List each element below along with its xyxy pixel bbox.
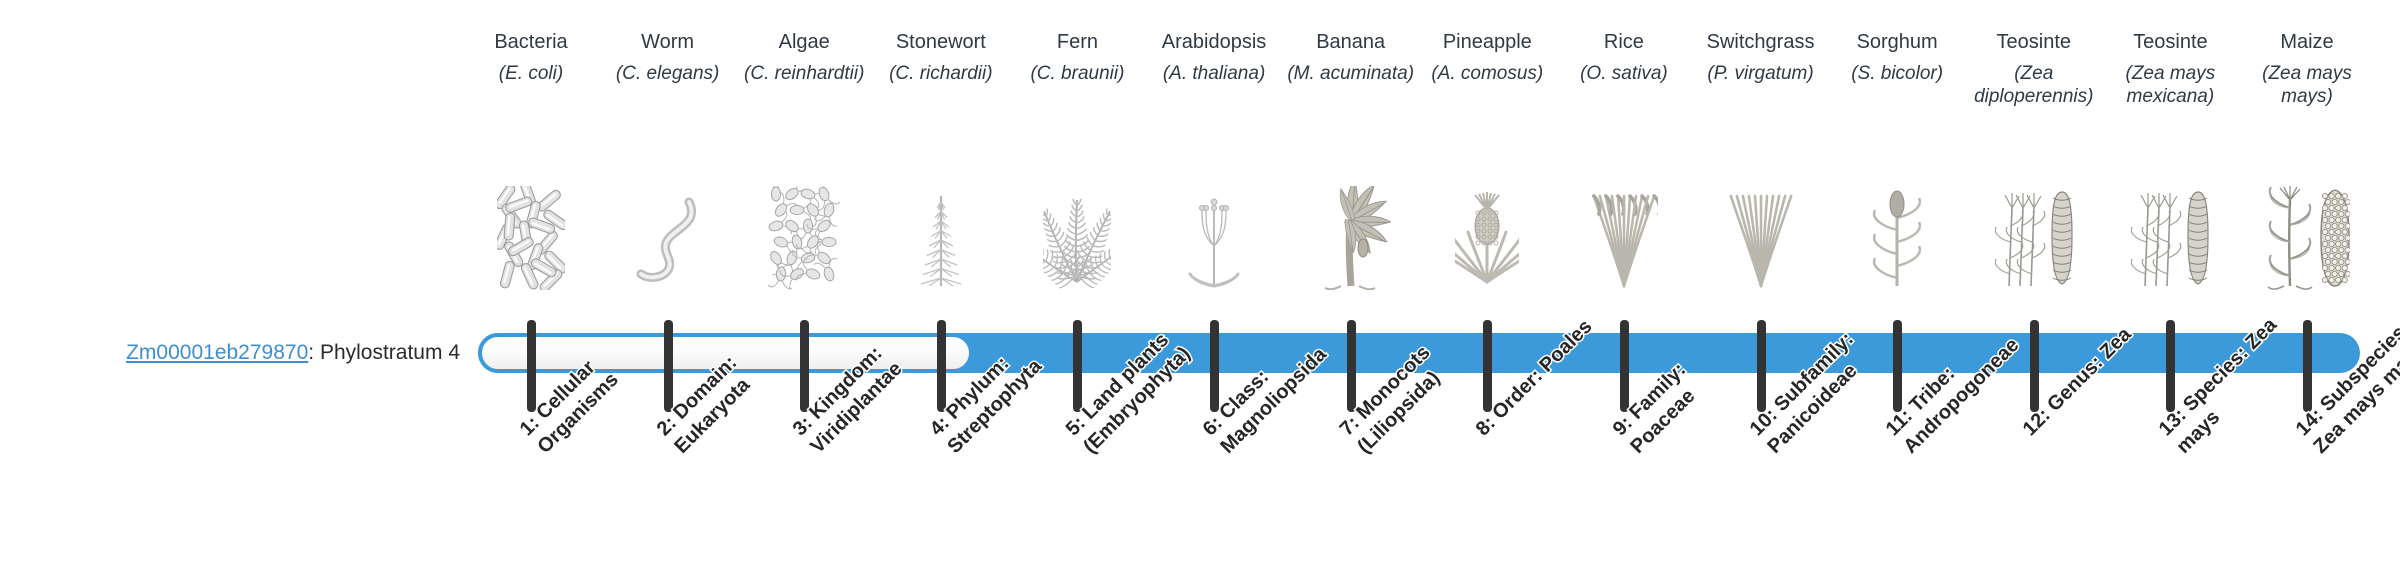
species-scientific-name: (P. virgatum) bbox=[1694, 62, 1828, 85]
teosinte-plant-and-ear-icon bbox=[2103, 195, 2237, 290]
phylostratum-tick bbox=[527, 320, 536, 412]
rank-label-text: 7: Monocots (Liliopsida) bbox=[1335, 304, 1491, 460]
species-column: Sorghum(S. bicolor) bbox=[1830, 30, 1964, 85]
sorghum-plant-icon bbox=[1830, 195, 1964, 290]
phylostratum-tick bbox=[1483, 320, 1492, 412]
rank-label-text: 1: Cellular Organisms bbox=[515, 304, 671, 460]
species-common-name: Teosinte bbox=[2103, 30, 2237, 54]
species-scientific-name: (E. coli) bbox=[464, 62, 598, 85]
species-common-name: Algae bbox=[737, 30, 871, 54]
species-scientific-name: (C. braunii) bbox=[1010, 62, 1144, 85]
stonewort-alga-icon bbox=[874, 195, 1008, 290]
phylostratum-tick bbox=[1620, 320, 1629, 412]
phylostratum-tick bbox=[1757, 320, 1766, 412]
phylostratum-value-text: Phylostratum 4 bbox=[320, 341, 460, 364]
phylostratum-tick bbox=[1893, 320, 1902, 412]
species-scientific-name: (A. thaliana) bbox=[1147, 62, 1281, 85]
rank-label-text: 3: Kingdom: Viridiplantae bbox=[788, 304, 944, 460]
switchgrass-plant-icon bbox=[1694, 195, 1828, 290]
species-common-name: Maize bbox=[2240, 30, 2374, 54]
species-common-name: Sorghum bbox=[1830, 30, 1964, 54]
rank-label-text: 5: Land plants (Embryophyta) bbox=[1061, 304, 1217, 460]
species-column: Pineapple(A. comosus) bbox=[1420, 30, 1554, 85]
green-algae-cells-icon bbox=[737, 195, 871, 290]
species-column: Switchgrass(P. virgatum) bbox=[1694, 30, 1828, 85]
species-common-name: Banana bbox=[1284, 30, 1418, 54]
species-common-name: Stonewort bbox=[874, 30, 1008, 54]
rank-label-text: 11: Tribe: Andropogoneae bbox=[1881, 304, 2037, 460]
species-scientific-name: (O. sativa) bbox=[1557, 62, 1691, 85]
species-common-name: Switchgrass bbox=[1694, 30, 1828, 54]
phylostratum-tick bbox=[1210, 320, 1219, 412]
gene-id-link[interactable]: Zm00001eb279870 bbox=[126, 341, 308, 364]
pineapple-plant-icon bbox=[1420, 195, 1554, 290]
phylostratum-tick bbox=[1347, 320, 1356, 412]
species-common-name: Bacteria bbox=[464, 30, 598, 54]
species-common-name: Rice bbox=[1557, 30, 1691, 54]
species-common-name: Worm bbox=[601, 30, 735, 54]
phylostratum-tick bbox=[2303, 320, 2312, 412]
species-scientific-name: (Zea mays mays) bbox=[2240, 62, 2374, 108]
species-common-name: Teosinte bbox=[1967, 30, 2101, 54]
phylostratum-tick bbox=[664, 320, 673, 412]
species-column: Teosinte(Zea mays mexicana) bbox=[2103, 30, 2237, 108]
phylostratum-tick bbox=[2166, 320, 2175, 412]
gene-phylostratum-label: Zm00001eb279870: Phylostratum 4 bbox=[40, 341, 460, 365]
rank-label-text: 9: Family: Poaceae bbox=[1608, 304, 1764, 460]
species-scientific-name: (Zea diploperennis) bbox=[1967, 62, 2101, 108]
species-scientific-name: (C. elegans) bbox=[601, 62, 735, 85]
species-column: Banana(M. acuminata) bbox=[1284, 30, 1418, 85]
bacteria-rods-icon bbox=[464, 195, 598, 290]
arabidopsis-plant-icon bbox=[1147, 195, 1281, 290]
species-column: Stonewort(C. richardii) bbox=[874, 30, 1008, 85]
phylostratum-tick bbox=[800, 320, 809, 412]
species-column: Fern(C. braunii) bbox=[1010, 30, 1144, 85]
banana-plant-icon bbox=[1284, 195, 1418, 290]
species-scientific-name: (C. richardii) bbox=[874, 62, 1008, 85]
species-common-name: Pineapple bbox=[1420, 30, 1554, 54]
rank-label-text: 10: Subfamily: Panicoideae bbox=[1745, 304, 1901, 460]
species-column: Teosinte(Zea diploperennis) bbox=[1967, 30, 2101, 108]
phylostratum-tick bbox=[937, 320, 946, 412]
species-scientific-name: (M. acuminata) bbox=[1284, 62, 1418, 85]
teosinte-plant-and-ear-icon bbox=[1967, 195, 2101, 290]
rank-label-text: 2: Domain: Eukaryota bbox=[652, 304, 808, 460]
maize-plant-and-ear-icon bbox=[2240, 195, 2374, 290]
phylostratum-bar-unfilled bbox=[478, 333, 973, 373]
species-scientific-name: (A. comosus) bbox=[1420, 62, 1554, 85]
species-common-name: Arabidopsis bbox=[1147, 30, 1281, 54]
fern-frond-icon bbox=[1010, 195, 1144, 290]
rice-plant-icon bbox=[1557, 195, 1691, 290]
nematode-worm-icon bbox=[601, 195, 735, 290]
phylostratum-tick bbox=[2030, 320, 2039, 412]
species-scientific-name: (C. reinhardtii) bbox=[737, 62, 871, 85]
species-common-name: Fern bbox=[1010, 30, 1144, 54]
phylostratum-timeline: Zm00001eb279870: Phylostratum 4 Bacteria… bbox=[0, 0, 2400, 580]
species-column: Algae(C. reinhardtii) bbox=[737, 30, 871, 85]
species-column: Worm(C. elegans) bbox=[601, 30, 735, 85]
species-column: Rice(O. sativa) bbox=[1557, 30, 1691, 85]
gene-label-separator: : bbox=[308, 341, 320, 364]
phylostratum-tick bbox=[1073, 320, 1082, 412]
rank-label-text: 13: Species: Zea mays bbox=[2154, 304, 2310, 460]
species-scientific-name: (Zea mays mexicana) bbox=[2103, 62, 2237, 108]
rank-label-text: 4: Phylum: Streptophyta bbox=[925, 304, 1081, 460]
species-column: Maize(Zea mays mays) bbox=[2240, 30, 2374, 108]
rank-label-text: 6: Class: Magnoliopsida bbox=[1198, 304, 1354, 460]
species-column: Bacteria(E. coli) bbox=[464, 30, 598, 85]
species-scientific-name: (S. bicolor) bbox=[1830, 62, 1964, 85]
species-column: Arabidopsis(A. thaliana) bbox=[1147, 30, 1281, 85]
